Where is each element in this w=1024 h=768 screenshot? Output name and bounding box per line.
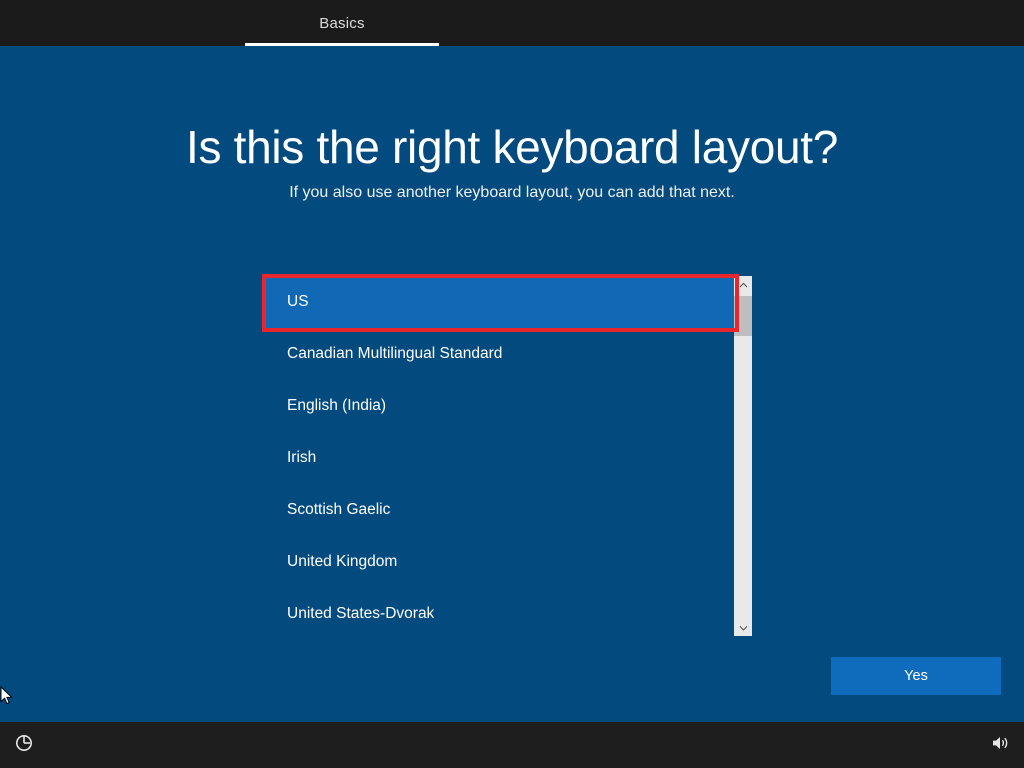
keyboard-layout-options: US Canadian Multilingual Standard Englis… <box>262 276 734 636</box>
chevron-up-icon <box>739 282 748 288</box>
setup-stage: Is this the right keyboard layout? If yo… <box>0 46 1024 722</box>
status-bar <box>0 722 1024 768</box>
list-item-label: US <box>287 293 309 311</box>
yes-button[interactable]: Yes <box>831 657 1001 695</box>
list-item-label: United States-Dvorak <box>287 605 434 623</box>
list-item[interactable]: Canadian Multilingual Standard <box>262 328 734 380</box>
volume-button[interactable] <box>988 733 1012 757</box>
list-item-label: Irish <box>287 449 316 467</box>
list-item-label: English (India) <box>287 397 386 415</box>
page-title: Is this the right keyboard layout? <box>0 120 1024 174</box>
list-item-label: Scottish Gaelic <box>287 501 390 519</box>
chevron-down-icon <box>739 625 748 631</box>
page-subtitle: If you also use another keyboard layout,… <box>0 184 1024 202</box>
list-item[interactable]: English (India) <box>262 380 734 432</box>
list-item[interactable]: United Kingdom <box>262 536 734 588</box>
keyboard-layout-listbox[interactable]: US Canadian Multilingual Standard Englis… <box>262 276 756 636</box>
list-item[interactable]: US <box>262 276 734 328</box>
title-bar: Basics <box>0 0 1024 46</box>
list-item[interactable]: United States-Dvorak <box>262 588 734 640</box>
ease-of-access-button[interactable] <box>12 733 36 757</box>
ease-of-access-icon <box>14 733 34 758</box>
scroll-up-button[interactable] <box>734 276 752 293</box>
tab-basics-label: Basics <box>319 15 364 32</box>
speaker-icon <box>990 734 1010 757</box>
list-item-label: Canadian Multilingual Standard <box>287 345 502 363</box>
list-item-label: United Kingdom <box>287 553 397 571</box>
list-item[interactable]: Irish <box>262 432 734 484</box>
list-scrollbar[interactable] <box>734 276 752 636</box>
list-item[interactable]: Scottish Gaelic <box>262 484 734 536</box>
scrollbar-thumb[interactable] <box>734 296 752 336</box>
scroll-down-button[interactable] <box>734 619 752 636</box>
tab-basics[interactable]: Basics <box>245 0 439 46</box>
